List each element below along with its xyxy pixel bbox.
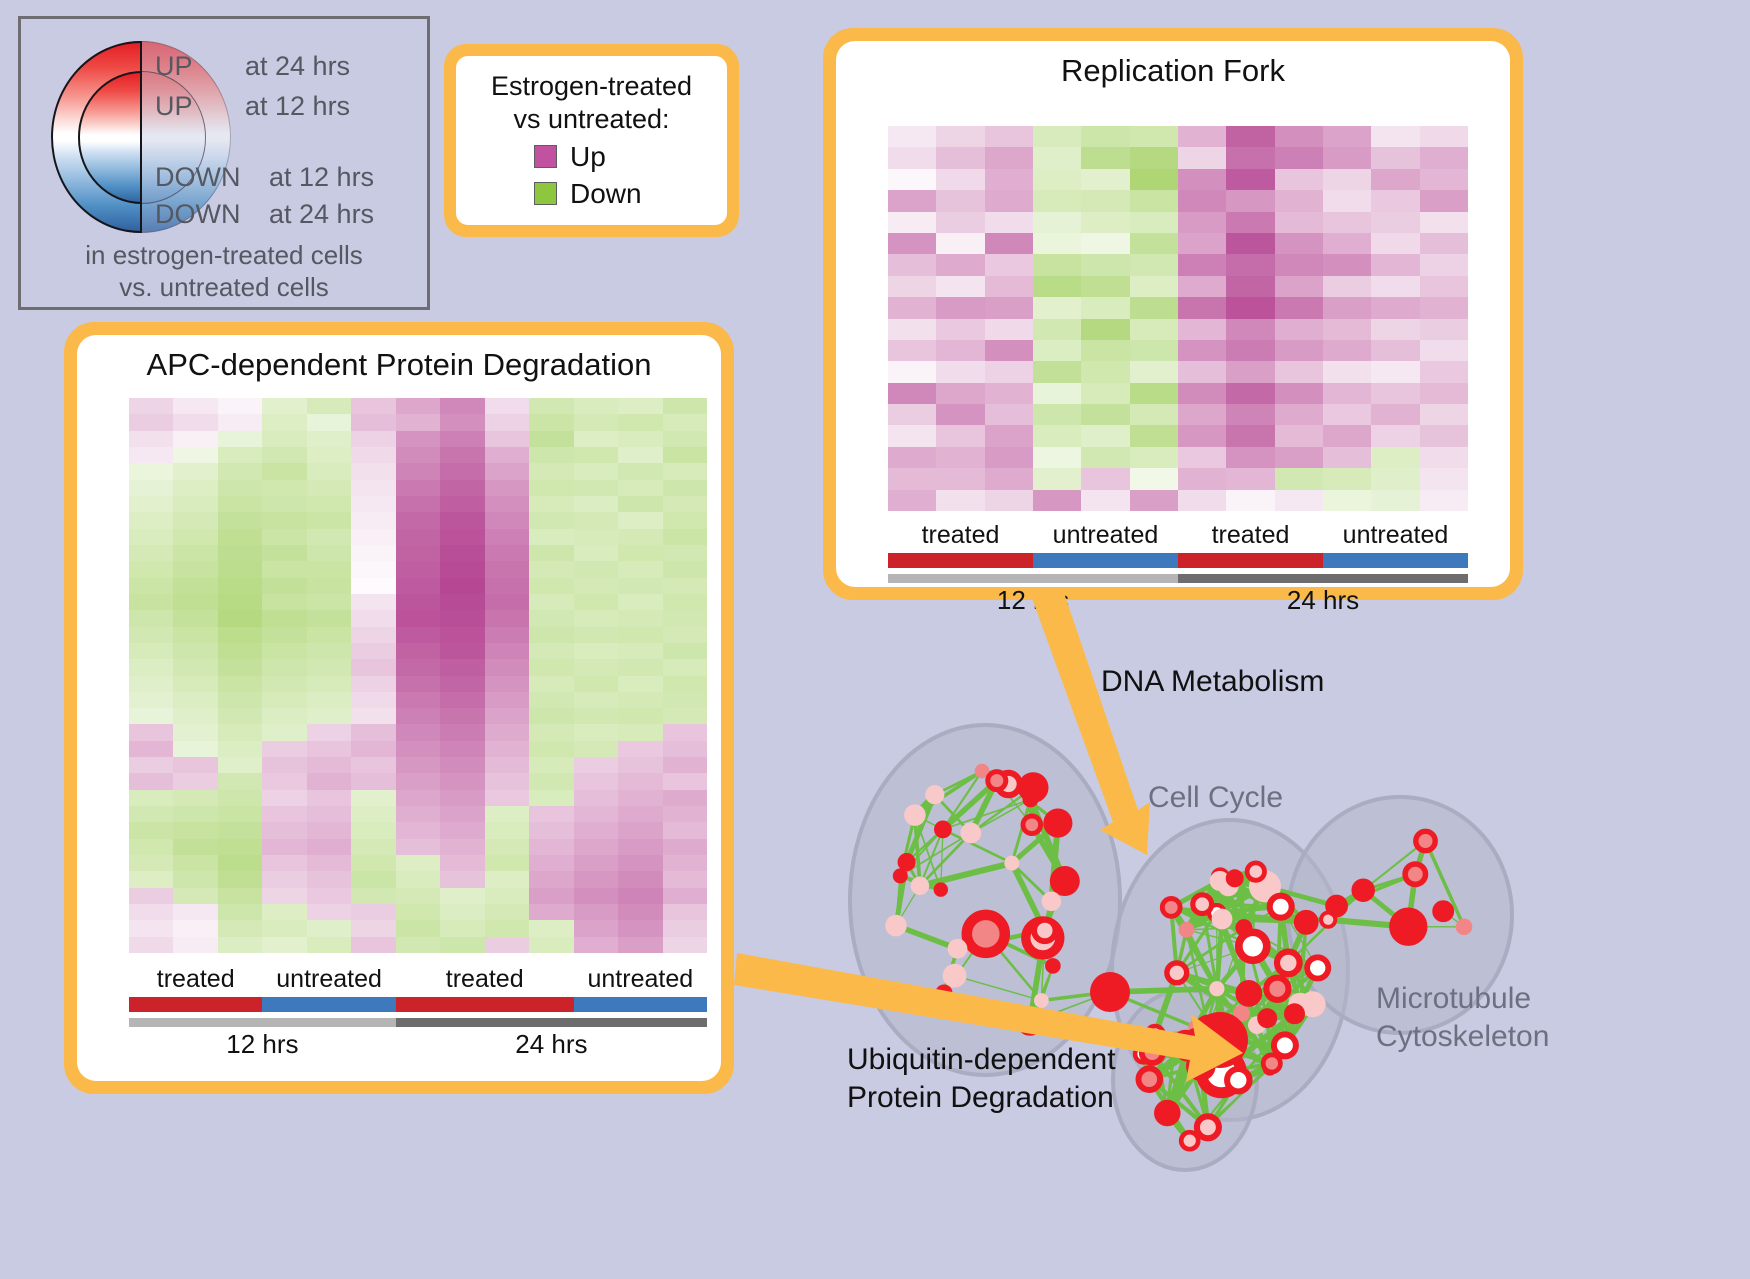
network-node[interactable]: [900, 855, 914, 869]
network-node[interactable]: [1179, 922, 1195, 938]
heatmap-cell: [440, 610, 484, 626]
heatmap-cell: [1178, 340, 1226, 361]
heatmap-cell: [1081, 212, 1129, 233]
heatmap-cell: [440, 790, 484, 806]
network-node[interactable]: [1047, 812, 1070, 835]
heatmap-cell: [1130, 468, 1178, 489]
heatmap-cell: [396, 871, 440, 887]
heatmap-cell: [262, 822, 306, 838]
heatmap-cell: [262, 480, 306, 496]
heatmap-cell: [129, 888, 173, 904]
network-node[interactable]: [1328, 897, 1346, 915]
network-node[interactable]: [1090, 972, 1130, 1012]
heatmap-cell: [262, 904, 306, 920]
heatmap-cell: [440, 578, 484, 594]
heatmap-cell: [1178, 254, 1226, 275]
wheel-ring-time-down-12: at 12 hrs: [269, 162, 374, 193]
heatmap-cell: [529, 414, 573, 430]
heatmap-cell: [1081, 169, 1129, 190]
heatmap-cell: [936, 404, 984, 425]
network-node[interactable]: [1209, 981, 1224, 996]
wheel-ring-label-up-24: UP: [155, 51, 193, 82]
heatmap-cell: [1178, 319, 1226, 340]
heatmap-cell: [936, 212, 984, 233]
heatmap-cell: [529, 904, 573, 920]
heatmap-cell: [351, 431, 395, 447]
heatmap-cell: [529, 839, 573, 855]
heatmap-cell: [985, 383, 1033, 404]
heatmap-cell: [396, 447, 440, 463]
network-node[interactable]: [1162, 899, 1180, 917]
network-node[interactable]: [1004, 856, 1019, 871]
heatmap-cell: [1081, 404, 1129, 425]
heatmap-cell: [985, 254, 1033, 275]
heatmap-cell: [1081, 468, 1129, 489]
network-node[interactable]: [960, 823, 981, 844]
heatmap-cell: [262, 871, 306, 887]
heatmap-cell: [173, 855, 217, 871]
heatmap-cell: [485, 594, 529, 610]
heatmap-cell: [1420, 233, 1468, 254]
heatmap-cell: [1130, 276, 1178, 297]
heatmap-cell: [618, 692, 662, 708]
estrogen-legend-inner: Estrogen-treated vs untreated: Up Down: [456, 56, 727, 225]
group-color-segment: [1178, 553, 1323, 568]
heatmap-cell: [1033, 447, 1081, 468]
heatmap-cell: [1081, 297, 1129, 318]
heatmap-cell: [574, 529, 618, 545]
network-node[interactable]: [1192, 1012, 1248, 1068]
heatmap-cell: [1371, 147, 1419, 168]
network-node[interactable]: [1034, 993, 1049, 1008]
time-labels-apc: 12 hrs24 hrs: [129, 1029, 707, 1060]
network-node[interactable]: [1193, 895, 1212, 914]
heatmap-cell: [396, 431, 440, 447]
heatmap-cell: [396, 920, 440, 936]
heatmap-cell: [485, 920, 529, 936]
heatmap-cell: [351, 724, 395, 740]
heatmap-cell: [1178, 447, 1226, 468]
heatmap-cell: [574, 512, 618, 528]
heatmap-cell: [262, 512, 306, 528]
heatmap-cell: [307, 610, 351, 626]
heatmap-cell: [1081, 361, 1129, 382]
heatmap-cell: [173, 398, 217, 414]
heatmap-cell: [262, 496, 306, 512]
heatmap-cell: [985, 276, 1033, 297]
time-color-segment: [1178, 574, 1468, 583]
heatmap-cell: [218, 561, 262, 577]
network-node[interactable]: [1235, 919, 1252, 936]
heatmap-cell: [307, 757, 351, 773]
network-node[interactable]: [1142, 1042, 1163, 1063]
heatmap-cell: [1275, 276, 1323, 297]
heatmap-cell: [1371, 468, 1419, 489]
network-node[interactable]: [1020, 1012, 1041, 1033]
heatmap-cell: [218, 888, 262, 904]
heatmap-cell: [440, 708, 484, 724]
heatmap-cell: [173, 578, 217, 594]
heatmap-cell: [1130, 190, 1178, 211]
heatmap-cell: [262, 578, 306, 594]
time-color-segment: [129, 1018, 396, 1027]
heatmap-cell: [262, 757, 306, 773]
network-node[interactable]: [1266, 978, 1288, 1000]
heatmap-cell: [1275, 212, 1323, 233]
network-node[interactable]: [967, 915, 1005, 953]
heatmap-cell: [574, 676, 618, 692]
group-colorbar-apc: [129, 997, 707, 1012]
group-label: untreated: [1323, 521, 1468, 550]
heatmap-cell: [663, 937, 707, 953]
heatmap-cell: [888, 404, 936, 425]
heatmap-cell: [618, 480, 662, 496]
network-node[interactable]: [1157, 1103, 1178, 1124]
heatmap-cell: [307, 480, 351, 496]
heatmap-cell: [440, 463, 484, 479]
heatmap-cell: [574, 398, 618, 414]
heatmap-cell: [218, 708, 262, 724]
heatmap-cell: [1130, 404, 1178, 425]
heatmap-cell: [485, 757, 529, 773]
heatmap-cell: [1371, 490, 1419, 511]
heatmap-cell: [1081, 254, 1129, 275]
heatmap-cell: [396, 839, 440, 855]
heatmap-cell: [1420, 404, 1468, 425]
network-node[interactable]: [1435, 903, 1452, 920]
heatmap-cell: [440, 447, 484, 463]
column-annotation-replication: treateduntreatedtreateduntreated 12 hrs2…: [888, 521, 1468, 616]
heatmap-cell: [440, 757, 484, 773]
heatmap-cell: [663, 627, 707, 643]
heatmap-cell: [307, 724, 351, 740]
heatmap-cell: [440, 512, 484, 528]
heatmap-cell: [1178, 190, 1226, 211]
heatmap-cell: [574, 561, 618, 577]
network-node[interactable]: [1239, 932, 1267, 960]
heatmap-cell: [985, 233, 1033, 254]
heatmap-cell: [396, 822, 440, 838]
heatmap-cell: [173, 692, 217, 708]
heatmap-cell: [351, 610, 395, 626]
heatmap-cell: [574, 610, 618, 626]
heatmap-cell: [440, 431, 484, 447]
heatmap-cell: [1420, 212, 1468, 233]
heatmap-cell: [396, 855, 440, 871]
heatmap-cell: [618, 643, 662, 659]
heatmap-cell: [1323, 297, 1371, 318]
heatmap-cell: [173, 676, 217, 692]
network-node[interactable]: [1226, 869, 1244, 887]
heatmap-cell: [396, 529, 440, 545]
heatmap-cell: [1178, 361, 1226, 382]
heatmap-cell: [351, 839, 395, 855]
heatmap-cell: [663, 610, 707, 626]
heatmap-cell: [129, 692, 173, 708]
heatmap-cell: [574, 463, 618, 479]
heatmap-cell: [440, 855, 484, 871]
heatmap-cell: [1371, 254, 1419, 275]
heatmap-cell: [218, 822, 262, 838]
heatmap-cell: [1323, 447, 1371, 468]
heatmap-cell: [1371, 126, 1419, 147]
heatmap-cell: [218, 855, 262, 871]
heatmap-cell: [440, 398, 484, 414]
network-node[interactable]: [1259, 1010, 1275, 1026]
heatmap-cell: [618, 545, 662, 561]
heatmap-cell: [1371, 361, 1419, 382]
outer-ring-outline: [51, 41, 141, 233]
network-node[interactable]: [1167, 963, 1187, 983]
heatmap-cell: [663, 447, 707, 463]
network-svg: [790, 610, 1750, 1279]
heatmap-cell: [1420, 169, 1468, 190]
heatmap-cell: [1033, 254, 1081, 275]
heatmap-cell: [1371, 447, 1419, 468]
heatmap-cell: [1081, 490, 1129, 511]
heatmap-cell: [307, 496, 351, 512]
heatmap-cell: [1226, 126, 1274, 147]
heatmap-cell: [618, 610, 662, 626]
network-node[interactable]: [988, 772, 1006, 790]
heatmap-cell: [1081, 340, 1129, 361]
heatmap-cell: [574, 773, 618, 789]
heatmap-cell: [888, 169, 936, 190]
heatmap-cell: [618, 463, 662, 479]
network-node[interactable]: [1212, 909, 1233, 930]
heatmap-cell: [1130, 254, 1178, 275]
heatmap-cell: [1226, 319, 1274, 340]
heatmap-cell: [663, 871, 707, 887]
heatmap-cell: [936, 319, 984, 340]
network-node[interactable]: [1354, 881, 1372, 899]
heatmap-cell: [396, 937, 440, 953]
heatmap-cell: [529, 529, 573, 545]
heatmap-cell: [307, 431, 351, 447]
heatmap-cell: [262, 431, 306, 447]
heatmap-cell: [173, 773, 217, 789]
group-color-segment: [262, 997, 395, 1012]
heatmap-cell: [485, 724, 529, 740]
heatmap-cell: [307, 659, 351, 675]
network-node[interactable]: [1227, 1069, 1249, 1091]
heatmap-cell: [307, 561, 351, 577]
heatmap-cell: [218, 578, 262, 594]
network-node[interactable]: [1277, 952, 1300, 975]
heatmap-cell: [1275, 447, 1323, 468]
heatmap-cell: [618, 627, 662, 643]
heatmap-cell: [618, 724, 662, 740]
heatmap-cell: [1275, 254, 1323, 275]
heatmap-cell: [936, 190, 984, 211]
heatmap-cell: [262, 545, 306, 561]
network-node[interactable]: [1270, 896, 1292, 918]
heatmap-cell: [663, 806, 707, 822]
group-color-segment: [396, 997, 574, 1012]
heatmap-cell: [485, 855, 529, 871]
heatmap-cell: [1081, 147, 1129, 168]
network-label-microtubule-cytoskeleton: Microtubule Cytoskeleton: [1376, 980, 1549, 1055]
heatmap-cell: [173, 447, 217, 463]
heatmap-cell: [574, 757, 618, 773]
heatmap-cell: [1226, 190, 1274, 211]
heatmap-cell: [618, 447, 662, 463]
network-node[interactable]: [1307, 957, 1328, 978]
heatmap-cell: [936, 490, 984, 511]
heatmap-cell: [1420, 468, 1468, 489]
network-node[interactable]: [885, 915, 907, 937]
network-node[interactable]: [1045, 958, 1061, 974]
heatmap-cell: [307, 822, 351, 838]
heatmap-cell: [1130, 340, 1178, 361]
heatmap-cell: [173, 822, 217, 838]
heatmap-cell: [1420, 297, 1468, 318]
network-node[interactable]: [1263, 1055, 1280, 1072]
heatmap-cell: [129, 904, 173, 920]
panel-apc-degradation: APC-dependent Protein Degradation treate…: [64, 322, 734, 1094]
network-node[interactable]: [1023, 791, 1039, 807]
network-node[interactable]: [1197, 1116, 1219, 1138]
network-node[interactable]: [925, 785, 944, 804]
network-node[interactable]: [1023, 816, 1041, 834]
heatmap-cell: [985, 190, 1033, 211]
network-node[interactable]: [948, 939, 968, 959]
network-node[interactable]: [911, 877, 930, 896]
wheel-caption-line2: vs. untreated cells: [21, 271, 427, 303]
heatmap-cell: [985, 212, 1033, 233]
heatmap-cell: [574, 855, 618, 871]
heatmap-cell: [129, 676, 173, 692]
heatmap-cell: [1081, 319, 1129, 340]
network-node[interactable]: [934, 821, 952, 839]
heatmap-cell: [440, 627, 484, 643]
network-node[interactable]: [1238, 983, 1259, 1004]
heatmap-cell: [529, 790, 573, 806]
heatmap-cell: [574, 839, 618, 855]
network-node[interactable]: [1042, 892, 1062, 912]
heatmap-cell: [307, 790, 351, 806]
heatmap-cell: [663, 496, 707, 512]
heatmap-cell: [574, 431, 618, 447]
heatmap-cell: [1420, 126, 1468, 147]
network-node[interactable]: [1416, 831, 1435, 850]
network-node[interactable]: [1405, 864, 1425, 884]
heatmap-cell: [618, 937, 662, 953]
heatmap-cell: [1420, 447, 1468, 468]
heatmap-cell: [1130, 212, 1178, 233]
heatmap-cell: [262, 888, 306, 904]
network-node[interactable]: [904, 804, 926, 826]
heatmap-cell: [1275, 425, 1323, 446]
heatmap-cell: [129, 431, 173, 447]
network-node[interactable]: [1284, 1003, 1305, 1024]
heatmap-cell: [307, 447, 351, 463]
heatmap-cell: [1130, 319, 1178, 340]
heatmap-cell: [888, 190, 936, 211]
group-label: untreated: [574, 965, 707, 994]
group-label: treated: [888, 521, 1033, 550]
heatmap-cell: [396, 773, 440, 789]
heatmap-cell: [1130, 169, 1178, 190]
heatmap-cell: [936, 147, 984, 168]
heatmap-cell: [529, 610, 573, 626]
heatmap-cell: [173, 741, 217, 757]
network-node[interactable]: [943, 964, 967, 988]
wheel-caption-line1: in estrogen-treated cells: [21, 239, 427, 271]
heatmap-cell: [985, 319, 1033, 340]
heatmap-cell: [936, 276, 984, 297]
heatmap-cell: [129, 545, 173, 561]
legend-label-down: Down: [570, 178, 642, 210]
network-node[interactable]: [1050, 866, 1080, 896]
heatmap-cell: [1323, 340, 1371, 361]
network-node[interactable]: [1297, 913, 1316, 932]
panel-replication-fork: Replication Fork treateduntreatedtreated…: [823, 28, 1523, 600]
network-node[interactable]: [1456, 919, 1473, 936]
heatmap-cell: [1371, 233, 1419, 254]
heatmap-cell: [262, 708, 306, 724]
network-node[interactable]: [1393, 912, 1423, 942]
heatmap-cell: [262, 937, 306, 953]
heatmap-cell: [618, 512, 662, 528]
heatmap-cell: [218, 839, 262, 855]
heatmap-cell: [529, 578, 573, 594]
heatmap-cell: [574, 904, 618, 920]
heatmap-cell: [262, 398, 306, 414]
network-node[interactable]: [1139, 1068, 1161, 1090]
heatmap-cell: [173, 904, 217, 920]
pathway-network-graph: [790, 610, 1750, 1279]
heatmap-cell: [307, 529, 351, 545]
heatmap-cell: [351, 708, 395, 724]
heatmap-cell: [485, 937, 529, 953]
heatmap-cell: [1178, 383, 1226, 404]
heatmap-cell: [129, 806, 173, 822]
heatmap-cell: [351, 692, 395, 708]
heatmap-cell: [529, 398, 573, 414]
heatmap-cell: [1226, 147, 1274, 168]
heatmap-cell: [173, 594, 217, 610]
heatmap-cell: [1178, 169, 1226, 190]
network-node[interactable]: [1274, 1034, 1296, 1056]
network-node[interactable]: [1181, 1132, 1198, 1149]
heatmap-cell: [351, 920, 395, 936]
heatmap-cell: [663, 578, 707, 594]
heatmap-cell: [485, 676, 529, 692]
heatmap-cell: [1081, 233, 1129, 254]
heatmap-cell: [1323, 490, 1371, 511]
heatmap-cell: [888, 383, 936, 404]
heatmap-cell: [1371, 319, 1419, 340]
heatmap-cell: [440, 496, 484, 512]
network-node[interactable]: [934, 882, 948, 896]
heatmap-cell: [351, 790, 395, 806]
heatmap-cell: [985, 447, 1033, 468]
network-node[interactable]: [1034, 920, 1055, 941]
network-node[interactable]: [935, 985, 952, 1002]
heatmap-cell: [351, 578, 395, 594]
heatmap-cell: [129, 480, 173, 496]
heatmap-cell: [618, 888, 662, 904]
swatch-up-icon: [534, 145, 557, 168]
heatmap-cell: [1130, 297, 1178, 318]
network-node[interactable]: [1247, 863, 1264, 880]
heatmap-cell: [218, 724, 262, 740]
heatmap-cell: [129, 414, 173, 430]
heatmap-cell: [307, 904, 351, 920]
heatmap-cell: [218, 398, 262, 414]
heatmap-cell: [218, 773, 262, 789]
